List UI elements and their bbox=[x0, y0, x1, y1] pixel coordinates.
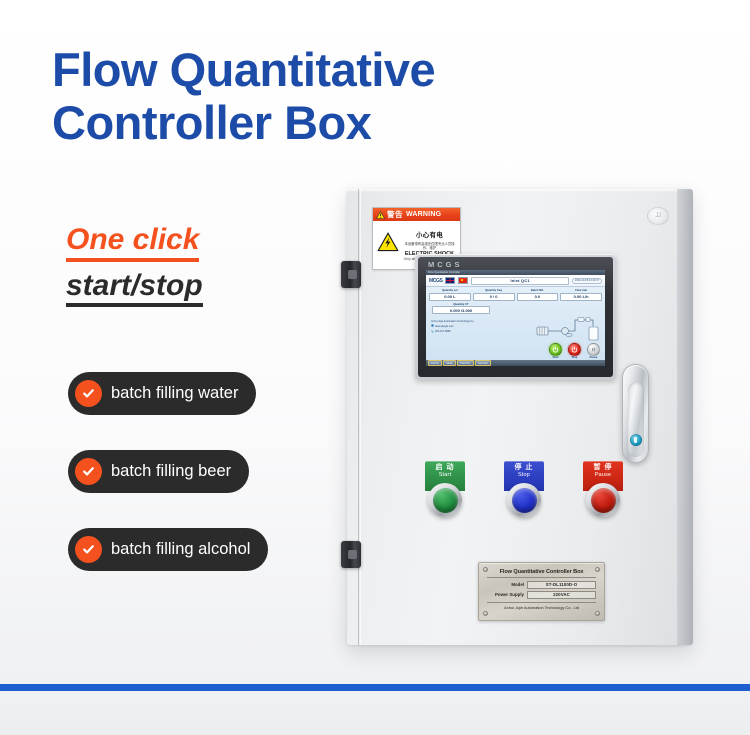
uk-flag-icon[interactable] bbox=[445, 277, 455, 284]
pushbutton-start[interactable]: 启 动 Start bbox=[419, 461, 471, 517]
warning-triangle-icon bbox=[376, 207, 385, 224]
nameplate-row: Model ST-DL1100D-O bbox=[487, 581, 596, 590]
cabinet-side-wall bbox=[677, 189, 693, 645]
hmi-header: MCGS Inlet QC1 2023-10-08 10:23:47 bbox=[426, 275, 605, 287]
power-icon bbox=[549, 343, 562, 356]
pushbutton-stop-ring[interactable] bbox=[507, 483, 541, 517]
hmi-company-info: Anhui Jujie Automation Technology Co. ww… bbox=[431, 320, 474, 335]
hmi-field[interactable]: Batch NO. 0.0 bbox=[517, 289, 559, 301]
hmi-field-label: Quantity set bbox=[429, 289, 471, 292]
warning-body-cn: 小心有电 bbox=[416, 232, 443, 239]
hmi-company-web: www.ahjujie.com bbox=[435, 325, 454, 329]
hmi-field-value[interactable]: 0.0 bbox=[517, 293, 559, 301]
hmi-stop-button[interactable]: Stop bbox=[568, 343, 581, 360]
hmi-field-value[interactable]: 0.00 L bbox=[429, 293, 471, 301]
lock-cylinder-icon[interactable] bbox=[630, 434, 642, 446]
screw-icon bbox=[595, 567, 600, 572]
product-banner: Flow Quantitative Controller Box One cli… bbox=[0, 0, 750, 735]
nameplate-footer: Anhui Jujie Automation Technology Co., L… bbox=[487, 602, 596, 610]
nameplate-key: Model bbox=[487, 582, 527, 588]
electric-shock-triangle-icon bbox=[377, 232, 399, 257]
hmi-screen-title: Inlet QC1 bbox=[471, 277, 569, 285]
hmi-company-tel: 400-167-6858 bbox=[435, 330, 451, 334]
door-seam bbox=[358, 189, 359, 645]
pushbutton-pause-ring[interactable] bbox=[586, 483, 620, 517]
hmi-pause-button[interactable]: Pause bbox=[587, 343, 600, 360]
hmi-field-label: Batch NO. bbox=[517, 289, 559, 292]
nameplate: Flow Quantitative Controller Box Model S… bbox=[478, 562, 605, 621]
pushbutton-pause-cap[interactable] bbox=[591, 488, 616, 513]
pushbutton-stop-label-cn: 停 止 bbox=[504, 464, 544, 471]
pushbutton-pause-label-en: Pause bbox=[583, 471, 623, 480]
hmi-touchscreen-panel[interactable]: MCGS Flow Quantitative Controller MCGS I… bbox=[415, 254, 616, 380]
nameplate-row: Power Supply 220VAC bbox=[487, 591, 596, 600]
hmi-field[interactable]: Quantity set 0.00 L bbox=[429, 289, 471, 301]
hmi-start-button[interactable]: Start bbox=[549, 343, 562, 360]
tagline-accent: One click bbox=[66, 224, 199, 262]
pushbutton-start-label-cn: 启 动 bbox=[425, 464, 465, 471]
hmi-screen[interactable]: Flow Quantitative Controller MCGS Inlet … bbox=[426, 270, 605, 366]
screw-icon bbox=[483, 567, 488, 572]
list-item-label: batch filling beer bbox=[111, 462, 231, 481]
hmi-tab-set-para[interactable]: Set Para bbox=[475, 360, 491, 366]
cn-flag-icon[interactable] bbox=[458, 277, 468, 284]
hmi-field[interactable]: Quantity freq 0 / 0 bbox=[473, 289, 515, 301]
hmi-tab-total-no[interactable]: Total NO. bbox=[457, 360, 473, 366]
door-hinge-top bbox=[341, 261, 361, 288]
hmi-taskbar: Current Mode Total NO. Set Para bbox=[426, 360, 605, 366]
list-item: batch filling alcohol bbox=[68, 528, 268, 571]
hmi-field-row: Quantity set 0.00 L Quantity freq 0 / 0 … bbox=[426, 287, 605, 302]
bottom-accent-bar bbox=[0, 684, 750, 691]
check-icon bbox=[75, 380, 102, 407]
check-icon bbox=[75, 458, 102, 485]
check-icon bbox=[75, 536, 102, 563]
headline-line-1: Flow Quantitative bbox=[52, 43, 435, 96]
pause-icon bbox=[587, 343, 600, 356]
hmi-field-label: Flow rate bbox=[560, 289, 602, 292]
nameplate-key: Power Supply bbox=[487, 592, 527, 598]
door-handle[interactable] bbox=[622, 364, 649, 463]
nameplate-value: ST-DL1100D-O bbox=[527, 581, 596, 590]
screw-icon bbox=[483, 611, 488, 616]
hmi-subfield-value[interactable]: 0.000 /3.000 bbox=[432, 306, 490, 314]
warning-label-header: 警告 WARNING bbox=[373, 208, 460, 221]
pushbutton-start-ring[interactable] bbox=[428, 483, 462, 517]
hmi-subfield[interactable]: Quantity CT 0.000 /3.000 bbox=[429, 302, 493, 316]
hmi-field-value[interactable]: 0 / 0 bbox=[473, 293, 515, 301]
hmi-brand-label: MCGS bbox=[428, 260, 463, 269]
hmi-button-row: Start Stop Pause bbox=[549, 343, 600, 360]
door-hinge-bottom bbox=[341, 541, 361, 568]
hmi-company-tel-row: 400-167-6858 bbox=[431, 330, 474, 335]
headline-line-2: Controller Box bbox=[52, 97, 612, 150]
list-item: batch filling water bbox=[68, 372, 256, 415]
warning-header-cn: 警告 bbox=[387, 211, 403, 219]
feature-list: batch filling water batch filling beer b… bbox=[68, 372, 328, 606]
pushbutton-row: 启 动 Start 停 止 Stop 暂 停 Pau bbox=[419, 461, 629, 517]
controller-cabinet: JJ 警告 WARNING 小心有电 本设备带有高电压仅限专业人员操作、维护 E… bbox=[347, 189, 692, 645]
screw-icon bbox=[595, 611, 600, 616]
pushbutton-stop[interactable]: 停 止 Stop bbox=[498, 461, 550, 517]
hmi-pause-label: Pause bbox=[587, 356, 600, 359]
hmi-titlebar-text: Flow Quantitative Controller bbox=[428, 271, 460, 274]
pushbutton-stop-cap[interactable] bbox=[512, 488, 537, 513]
pushbutton-start-label-en: Start bbox=[425, 471, 465, 480]
cabinet-top-highlight bbox=[347, 189, 692, 192]
hmi-company-name: Anhui Jujie Automation Technology Co. bbox=[431, 320, 474, 324]
phone-icon bbox=[431, 330, 434, 335]
pushbutton-stop-label-en: Stop bbox=[504, 471, 544, 480]
warning-body-cn-sub: 本设备带有高电压仅限专业人员操作、维护 bbox=[402, 242, 457, 251]
hmi-start-label: Start bbox=[549, 356, 562, 359]
hmi-field[interactable]: Flow rate 0.00 L/h bbox=[560, 289, 602, 301]
list-item-label: batch filling water bbox=[111, 384, 238, 403]
hmi-tab-mode[interactable]: Mode bbox=[443, 360, 455, 366]
list-item: batch filling beer bbox=[68, 450, 249, 493]
hmi-bezel: MCGS Flow Quantitative Controller MCGS I… bbox=[418, 257, 613, 377]
hmi-clock: 2023-10-08 10:23:47 bbox=[572, 278, 602, 284]
hmi-tab-current[interactable]: Current bbox=[428, 360, 442, 366]
nameplate-title: Flow Quantitative Controller Box bbox=[487, 569, 596, 578]
page-title: Flow Quantitative Controller Box bbox=[52, 44, 612, 149]
hmi-stop-label: Stop bbox=[568, 356, 581, 359]
pushbutton-pause[interactable]: 暂 停 Pause bbox=[577, 461, 629, 517]
hmi-field-label: Quantity freq bbox=[473, 289, 515, 292]
door-seam-highlight bbox=[360, 189, 361, 645]
tagline-secondary: start/stop bbox=[66, 270, 203, 308]
tagline: One click start/stop bbox=[66, 224, 326, 307]
pushbutton-pause-label-cn: 暂 停 bbox=[583, 464, 623, 471]
manufacturer-logo: JJ bbox=[647, 207, 669, 225]
nameplate-value: 220VAC bbox=[527, 591, 596, 600]
power-icon bbox=[568, 343, 581, 356]
warning-header-en: WARNING bbox=[406, 211, 441, 218]
list-item-label: batch filling alcohol bbox=[111, 540, 250, 559]
hmi-screen-logo: MCGS bbox=[429, 278, 442, 284]
hmi-field-value[interactable]: 0.00 L/h bbox=[560, 293, 602, 301]
pushbutton-start-cap[interactable] bbox=[433, 488, 458, 513]
